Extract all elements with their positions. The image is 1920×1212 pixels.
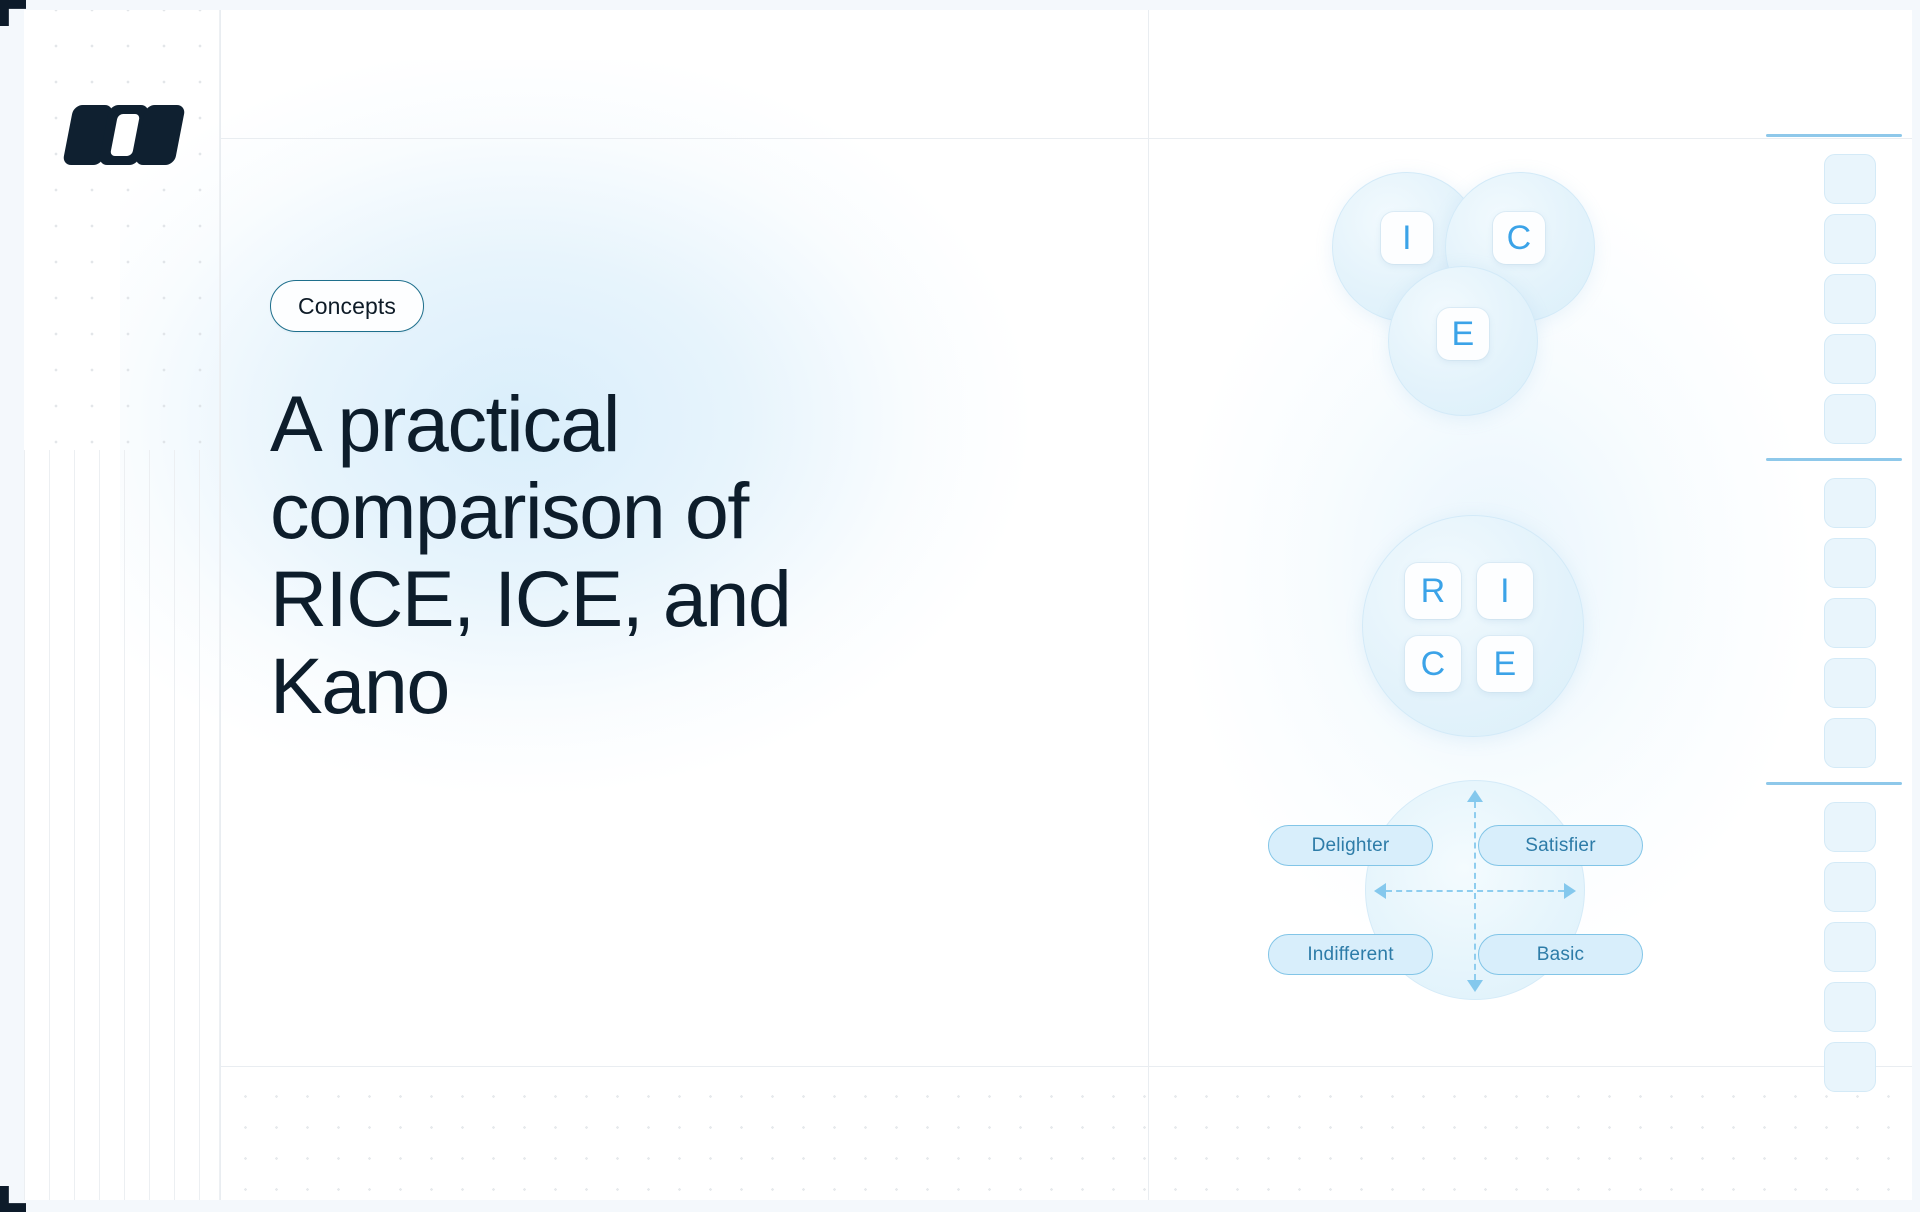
hero-content: Concepts A practical comparison of RICE,… [270,280,970,729]
stacked-blocks-logo[interactable] [68,105,180,165]
rail-square[interactable] [1824,478,1876,528]
side-rail [1824,128,1896,1107]
kano-pill-indifferent[interactable]: Indifferent [1268,934,1433,975]
rail-square[interactable] [1824,718,1876,768]
rail-divider-2 [1766,458,1902,461]
ice-tile-c: C [1493,212,1545,264]
frame-right [1912,0,1920,1212]
illustration-column: I C E R I C E Delighter Satisfier Indiff… [1150,140,1912,1067]
kano-pill-satisfier[interactable]: Satisfier [1478,825,1643,866]
rail-square[interactable] [1824,1042,1876,1092]
left-column-divider [220,10,221,1200]
rail-square[interactable] [1824,214,1876,264]
rail-square[interactable] [1824,154,1876,204]
dot-grid-pattern [24,10,220,450]
ice-tile-e: E [1437,308,1489,360]
rail-square[interactable] [1824,982,1876,1032]
rice-tile-r: R [1405,563,1461,619]
slide-canvas: Concepts A practical comparison of RICE,… [0,0,1920,1212]
frame-top [0,0,1920,10]
category-badge[interactable]: Concepts [270,280,424,332]
frame-left [0,0,24,1212]
kano-arrow-up-icon [1467,790,1483,802]
rail-square[interactable] [1824,658,1876,708]
kano-pill-basic[interactable]: Basic [1478,934,1643,975]
rail-square[interactable] [1824,394,1876,444]
center-divider [1148,10,1149,1200]
page-title: A practical comparison of RICE, ICE, and… [270,380,950,729]
rail-divider-3 [1766,782,1902,785]
rail-square[interactable] [1824,922,1876,972]
kano-pill-delighter[interactable]: Delighter [1268,825,1433,866]
header-divider [220,138,1912,139]
rail-square[interactable] [1824,802,1876,852]
rail-square[interactable] [1824,538,1876,588]
rice-bubble [1362,515,1584,737]
frame-bottom [0,1200,1920,1212]
rice-tile-c: C [1405,636,1461,692]
rail-square[interactable] [1824,598,1876,648]
kano-arrow-left-icon [1374,883,1386,899]
kano-arrow-down-icon [1467,980,1483,992]
rail-square[interactable] [1824,334,1876,384]
kano-horizontal-axis [1386,890,1564,892]
bottom-dot-band [220,1067,1912,1200]
rail-square[interactable] [1824,862,1876,912]
left-ornament-column [24,10,220,1200]
vertical-stripe-pattern [24,450,220,1200]
kano-arrow-right-icon [1564,883,1576,899]
rice-tile-e: E [1477,636,1533,692]
rail-square[interactable] [1824,274,1876,324]
rice-tile-i: I [1477,563,1533,619]
rail-divider-1 [1766,134,1902,137]
ice-tile-i: I [1381,212,1433,264]
